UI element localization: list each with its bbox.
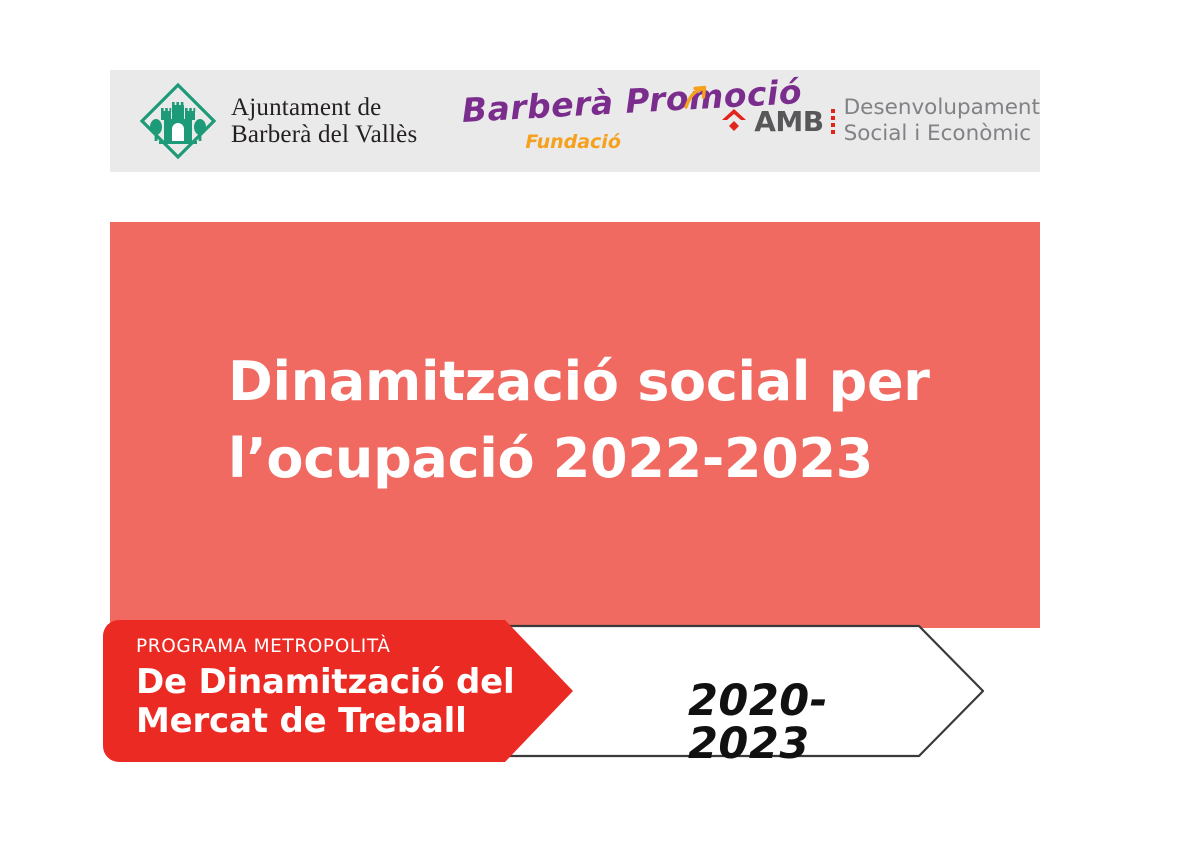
amb-description: Desenvolupament Social i Econòmic <box>844 95 1040 147</box>
orange-arrow-icon <box>682 85 708 111</box>
amb-desc-line-2: Social i Econòmic <box>844 121 1040 147</box>
logo-barbera-promocio: Barberà Promoció Fundació <box>463 85 705 157</box>
program-line-1: De Dinamització del <box>136 663 514 702</box>
red-dots-icon <box>831 106 835 136</box>
program-line-2: Mercat de Treball <box>136 702 514 741</box>
program-years: 2020-2023 <box>688 680 893 766</box>
barbera-crest-icon <box>139 82 217 160</box>
amb-diamond-icon <box>719 106 749 136</box>
page-title-line-2: l’ocupació 2022-2023 <box>228 421 988 498</box>
page-title: Dinamització social per l’ocupació 2022-… <box>228 344 988 497</box>
page-title-line-1: Dinamització social per <box>228 344 988 421</box>
program-banner: PROGRAMA METROPOLITÀ De Dinamització del… <box>103 620 893 762</box>
ajuntament-wordmark: Ajuntament de Barberà del Vallès <box>231 94 417 148</box>
program-kicker: PROGRAMA METROPOLITÀ <box>136 638 514 657</box>
ajuntament-line-2: Barberà del Vallès <box>231 121 417 148</box>
partner-logos-band: Ajuntament de Barberà del Vallès Barberà… <box>110 70 1040 172</box>
barbera-promocio-subtitle: Fundació <box>525 131 620 153</box>
logo-ajuntament-barbera: Ajuntament de Barberà del Vallès <box>139 82 417 160</box>
hero-panel: Dinamització social per l’ocupació 2022-… <box>110 222 1040 628</box>
ajuntament-line-1: Ajuntament de <box>231 94 417 121</box>
program-banner-text: PROGRAMA METROPOLITÀ De Dinamització del… <box>136 638 514 741</box>
amb-desc-line-1: Desenvolupament <box>844 95 1040 121</box>
